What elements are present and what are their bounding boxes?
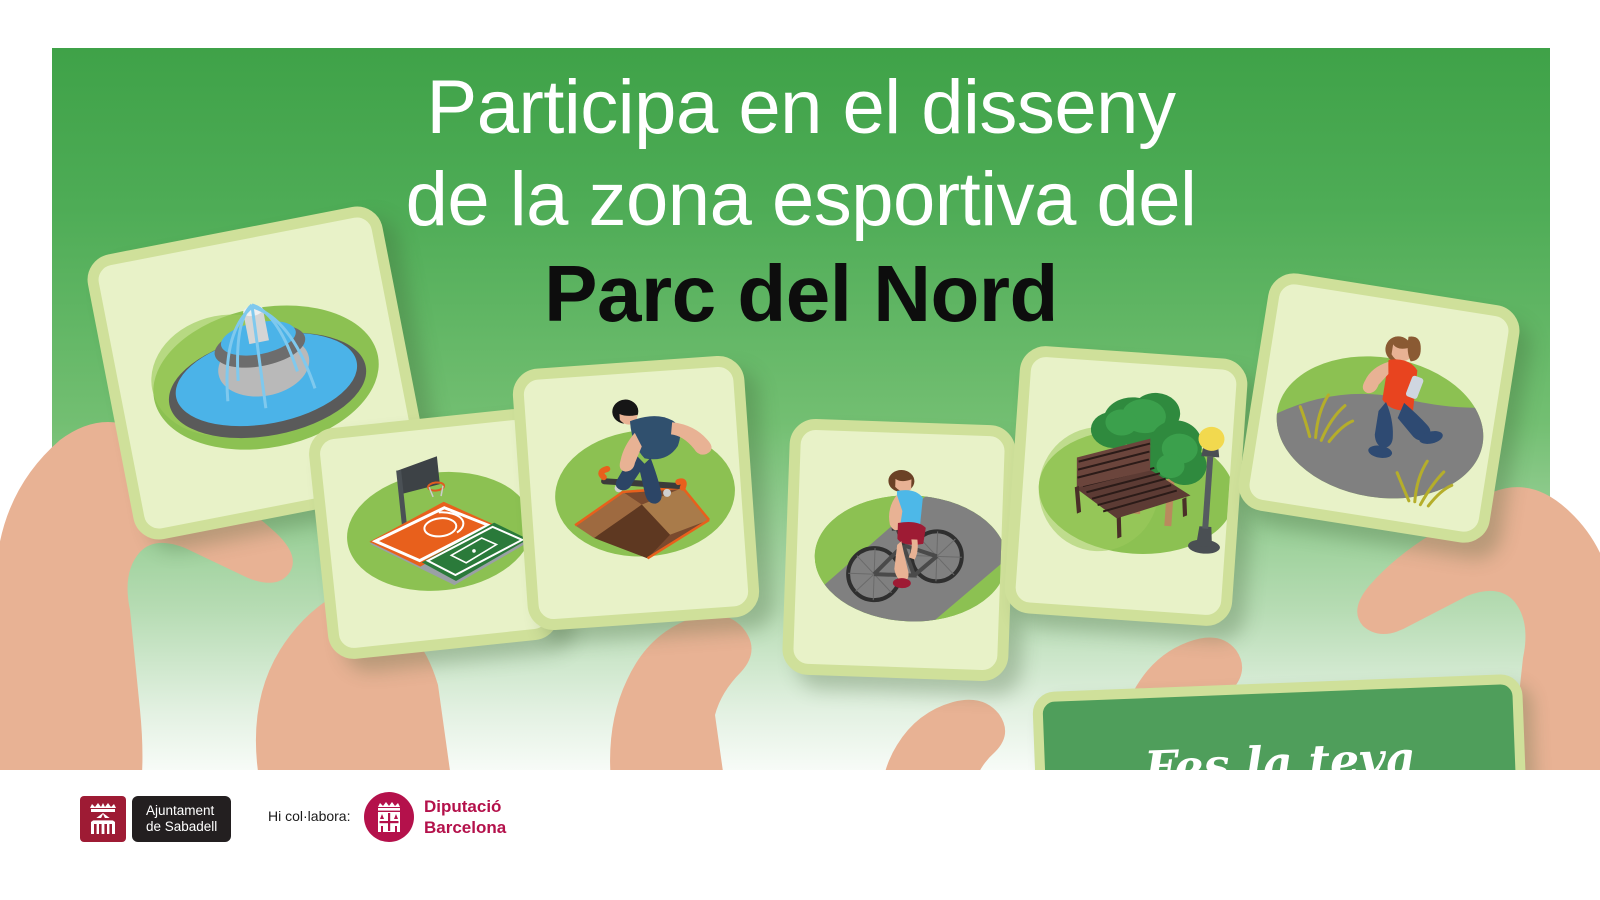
sabadell-line-2: de Sabadell [146, 819, 217, 835]
card-skatepark[interactable] [511, 354, 761, 632]
diputacio-crest-icon [364, 792, 414, 842]
diputacio-logo[interactable]: Diputació Barcelona [364, 792, 506, 842]
sabadell-line-1: Ajuntament [146, 803, 217, 819]
card-running-path-art [1247, 282, 1510, 534]
poster-root: Participa en el disseny de la zona espor… [0, 0, 1600, 900]
card-bike-path[interactable] [782, 418, 1017, 682]
sabadell-crest-icon [80, 796, 126, 842]
card-park-bench[interactable] [1003, 344, 1249, 627]
card-sports-court-art [319, 419, 550, 650]
sabadell-name-block: Ajuntament de Sabadell [132, 796, 231, 842]
footer-bar: Ajuntament de Sabadell Hi col·labora: [0, 770, 1600, 900]
collaborate-label: Hi col·labora: [268, 808, 350, 824]
card-skatepark-art [523, 366, 749, 620]
card-park-bench-art [1015, 356, 1238, 616]
card-bike-path-art [793, 430, 1005, 671]
diputacio-name-block: Diputació Barcelona [424, 796, 506, 838]
diputacio-line-1: Diputació [424, 796, 506, 817]
sabadell-logo[interactable]: Ajuntament de Sabadell [80, 796, 231, 842]
diputacio-line-2: Barcelona [424, 817, 506, 838]
card-running-path[interactable] [1235, 270, 1523, 547]
